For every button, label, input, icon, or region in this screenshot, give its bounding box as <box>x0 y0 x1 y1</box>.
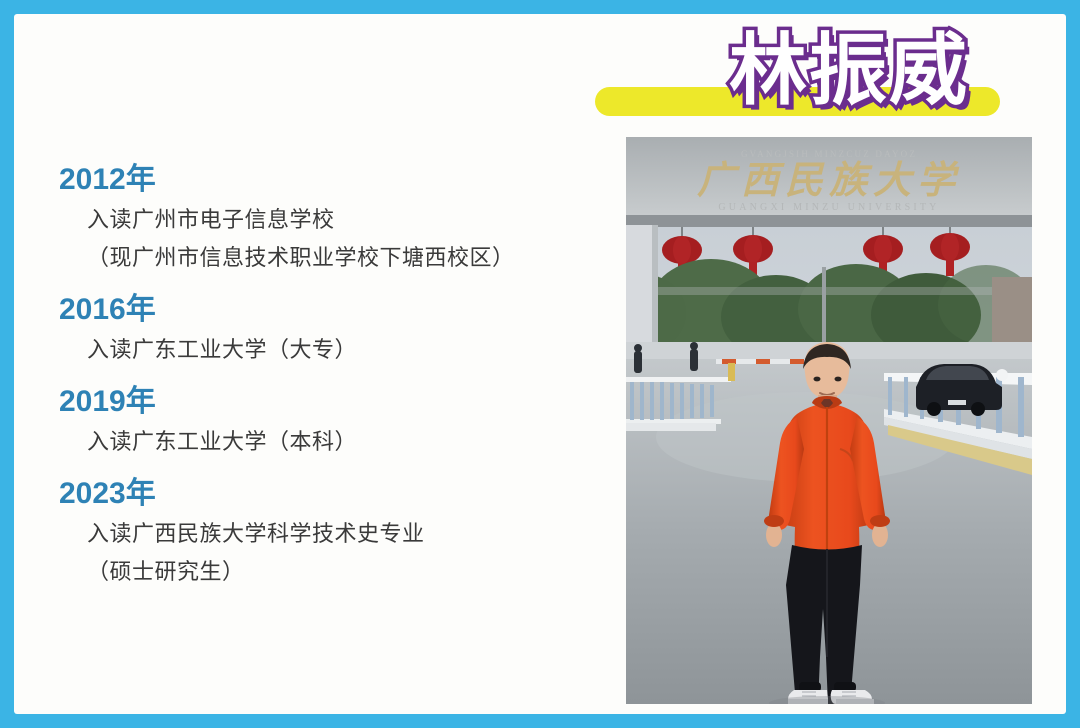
timeline-year: 2019年 <box>59 381 619 423</box>
timeline-description: 入读广西民族大学科学技术史专业 （硕士研究生） <box>87 515 619 591</box>
poster-inner-canvas: 林振威 2012年 入读广州市电子信息学校 （现广州市信息技术职业学校下塘西校区… <box>14 14 1066 714</box>
poster-root: 林振威 2012年 入读广州市电子信息学校 （现广州市信息技术职业学校下塘西校区… <box>0 0 1080 728</box>
timeline-year: 2016年 <box>59 289 619 331</box>
timeline-description-line: 入读广东工业大学（大专） <box>87 331 619 369</box>
timeline-entry: 2019年 入读广东工业大学（本科） <box>59 381 619 461</box>
timeline-year: 2023年 <box>59 473 619 515</box>
timeline-description-line: 入读广西民族大学科学技术史专业 <box>87 515 619 553</box>
timeline-entry: 2012年 入读广州市电子信息学校 （现广州市信息技术职业学校下塘西校区） <box>59 159 619 277</box>
photo-illustration: GVANGJSIH MINZCUZ DAYOZ 广西民族大学 GUANGXI M… <box>626 137 1032 704</box>
portrait-photo: GVANGJSIH MINZCUZ DAYOZ 广西民族大学 GUANGXI M… <box>626 137 1032 704</box>
timeline-year: 2012年 <box>59 159 619 201</box>
timeline-entry: 2023年 入读广西民族大学科学技术史专业 （硕士研究生） <box>59 473 619 591</box>
timeline-description: 入读广州市电子信息学校 （现广州市信息技术职业学校下塘西校区） <box>87 201 619 277</box>
timeline-description: 入读广东工业大学（大专） <box>87 331 619 369</box>
timeline-description: 入读广东工业大学（本科） <box>87 423 619 461</box>
timeline-description-line: 入读广州市电子信息学校 <box>87 201 619 239</box>
page-title: 林振威 <box>729 25 969 117</box>
svg-text:GUANGXI MINZU UNIVERSITY: GUANGXI MINZU UNIVERSITY <box>718 202 939 213</box>
timeline-description-line: （现广州市信息技术职业学校下塘西校区） <box>87 239 619 277</box>
timeline-description-line: （硕士研究生） <box>87 553 619 591</box>
timeline-list: 2012年 入读广州市电子信息学校 （现广州市信息技术职业学校下塘西校区） 20… <box>59 159 619 603</box>
timeline-entry: 2016年 入读广东工业大学（大专） <box>59 289 619 369</box>
svg-text:广西民族大学: 广西民族大学 <box>697 158 961 202</box>
timeline-description-line: 入读广东工业大学（本科） <box>87 423 619 461</box>
title-block: 林振威 <box>595 73 1015 135</box>
